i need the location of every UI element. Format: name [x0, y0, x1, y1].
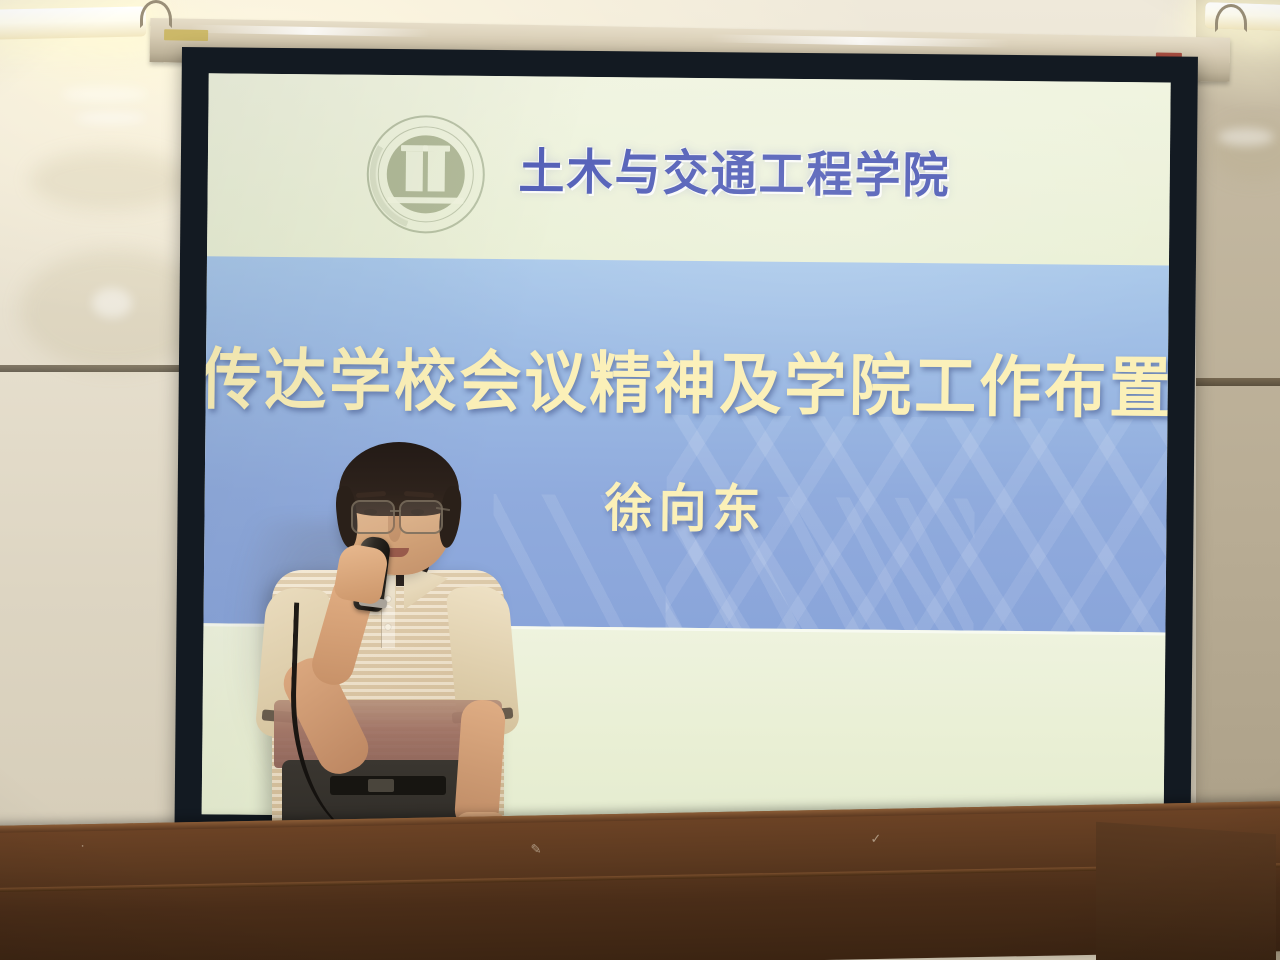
speaker-nose	[388, 516, 401, 542]
wall-trim-right	[1196, 378, 1280, 386]
podium-scuff-mark: ·	[80, 838, 86, 854]
wall-gloss-highlight	[92, 288, 132, 318]
fluorescent-light-left-icon	[0, 6, 146, 39]
presentation-photo-scene: 土木与交通工程学院 传达学校会议精神及学院工作布置 徐向东	[0, 0, 1280, 960]
wall-gloss-highlight	[62, 86, 148, 102]
roller-sticker-label	[164, 29, 208, 41]
school-emblem-logo-icon	[366, 114, 485, 233]
podium-scuff-mark: ✓	[870, 831, 882, 847]
podium-scuff-mark: ✎	[530, 841, 542, 857]
podium-right-side-face	[1096, 822, 1276, 960]
wall-smudge	[30, 150, 190, 210]
slide-zigzag-watermark-2	[492, 494, 974, 631]
wall-gloss-highlight	[76, 112, 146, 124]
speaker-left-hand	[333, 542, 390, 605]
college-name-text: 土木与交通工程学院	[518, 133, 951, 207]
slide-header: 土木与交通工程学院	[207, 73, 1171, 265]
speaker-glasses-bridge	[390, 510, 401, 512]
podium-desk: ✎ ✓ ·	[0, 800, 1280, 960]
speaker-shirt-button	[385, 624, 391, 630]
podium-groove-line	[0, 862, 1280, 892]
wall-gloss-highlight	[1218, 128, 1274, 146]
speaker-glasses-right-lens	[399, 500, 443, 534]
